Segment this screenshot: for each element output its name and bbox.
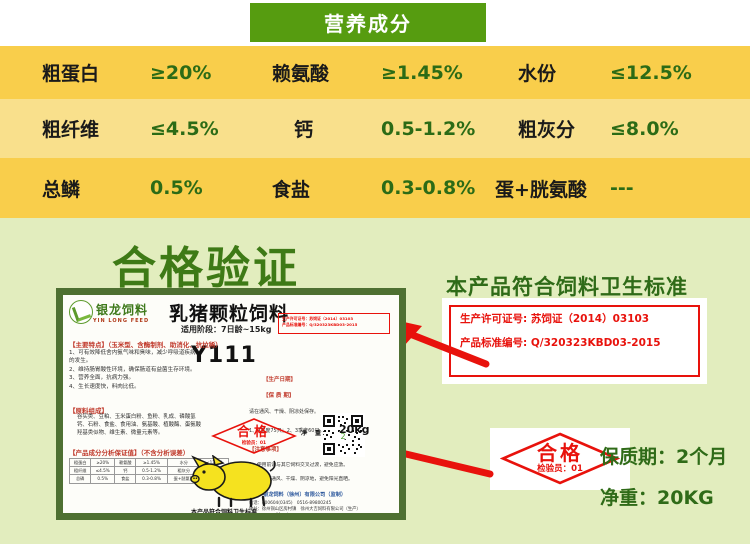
- nutrient-value: ≤12.5%: [610, 62, 692, 84]
- cell: 0.5%: [91, 475, 115, 483]
- feature-item: 1、可有效降低舍内氨气味和臭味，减少呼吸道疾病的发生。: [69, 349, 199, 366]
- label-net-weight-value: 20kg: [339, 423, 370, 436]
- cell: 0.3-0.8%: [136, 475, 167, 483]
- product-label-inner: 银龙饲料 YIN LONG FEED 乳猪颗粒饲料 适用阶段：7日龄~15kg …: [63, 295, 399, 513]
- cell: ≥20%: [91, 459, 115, 467]
- cell: ≥1.45%: [136, 459, 167, 467]
- nutrition-row: 粗纤维 ≤4.5% 钙 0.5-1.2% 粗灰分 ≤8.0%: [0, 99, 750, 158]
- nutrition-header-badge: 营养成分: [250, 3, 486, 42]
- brand-name-en: YIN LONG FEED: [93, 318, 149, 324]
- yinlong-logo-icon: 银龙饲料 YIN LONG FEED: [69, 300, 149, 324]
- pig-illustration-icon: [189, 455, 279, 507]
- cell: 粗纤维: [70, 467, 91, 475]
- nutrient-value: 0.5-1.2%: [381, 118, 475, 140]
- nutrient-label: 总鳞: [42, 175, 80, 202]
- label-guarantee-heading: 【产品成分分析保证值】（不含分析误差）: [69, 447, 189, 457]
- label-materials-text: 谷实类、豆粕、玉米蛋白粉、鱼粉、乳成、磷酸氢钙、石粉、食盐、食用油、氨基酸、植酸…: [77, 414, 205, 437]
- qualified-stamp-label: 合格: [537, 443, 583, 463]
- cell: 食盐: [115, 475, 136, 483]
- nutrient-value: ≤4.5%: [150, 118, 219, 140]
- nutrient-label: 粗灰分: [518, 115, 575, 142]
- nutrient-value: ≥1.45%: [381, 62, 463, 84]
- nutrient-value: 0.3-0.8%: [381, 177, 475, 199]
- nutrient-label: 钙: [294, 115, 313, 142]
- nutrient-label: 粗蛋白: [42, 59, 99, 86]
- cell: 0.5-1.2%: [136, 467, 167, 475]
- label-standard-number: 产品标准编号：Q/320323KBD03-2015: [282, 322, 386, 328]
- nutrient-label: 食盐: [272, 175, 310, 202]
- label-production-date-heading: 【生产日期】: [263, 375, 296, 383]
- label-qualified-stamp-text: 合格 检验员：01: [211, 417, 297, 455]
- product-standard-number: 产品标准编号: Q/320323KBD03-2015: [460, 338, 689, 349]
- label-shelf-life-heading: 【保 质 期】: [263, 391, 294, 399]
- hygiene-standard-heading: 本产品符合饲料卫生标准: [446, 271, 688, 301]
- label-license-box: 生产许可证号：苏饲证（2014）03103 产品标准编号：Q/320323KBD…: [278, 313, 390, 334]
- label-hygiene-note: 本产品符合饲料卫生标准: [191, 507, 257, 513]
- label-features-list: 1、可有效降低舍内氨气味和臭味，减少呼吸道疾病的发生。 2、维持肠胃酸性环境，确…: [69, 349, 199, 391]
- label-net-weight-label: 净 重：: [301, 428, 329, 437]
- cell: 赖氨酸: [115, 459, 136, 467]
- nutrient-value: 0.5%: [150, 177, 203, 199]
- nutrient-label: 粗纤维: [42, 115, 99, 142]
- nutrient-label: 赖氨酸: [272, 59, 329, 86]
- product-label-card: 银龙饲料 YIN LONG FEED 乳猪颗粒饲料 适用阶段：7日龄~15kg …: [56, 288, 406, 520]
- feature-item: 2、维持肠胃酸性环境，确保肠道有益菌生存环境。: [69, 366, 199, 374]
- nutrition-header-strip: 营养成分: [0, 0, 750, 46]
- feature-item: 3、营养全面，抗病力强。: [69, 374, 199, 382]
- license-info-box: 生产许可证号: 苏饲证（2014）03103 产品标准编号: Q/320323K…: [449, 305, 700, 377]
- inspector-label: 检验员：01: [537, 465, 583, 474]
- cell: 钙: [115, 467, 136, 475]
- nutrition-row: 粗蛋白 ≥20% 赖氨酸 ≥1.45% 水份 ≤12.5%: [0, 46, 750, 99]
- cell: 总磷: [70, 475, 91, 483]
- product-detail-page: 营养成分 粗蛋白 ≥20% 赖氨酸 ≥1.45% 水份 ≤12.5% 粗纤维 ≤…: [0, 0, 750, 544]
- feature-item: 4、生长速度快，料肉比低。: [69, 383, 199, 391]
- cell: ≤4.5%: [91, 467, 115, 475]
- nutrient-value: ≤8.0%: [610, 118, 679, 140]
- logo-mark-icon: [69, 300, 93, 324]
- verification-title: 合格验证: [112, 232, 300, 296]
- nutrition-row: 总鳞 0.5% 食盐 0.3-0.8% 蛋+胱氨酸 ---: [0, 158, 750, 218]
- nutrient-label: 水份: [518, 59, 556, 86]
- license-number: 生产许可证号: 苏饲证（2014）03103: [460, 314, 689, 325]
- label-stage: 适用阶段：7日龄~15kg: [181, 324, 271, 335]
- cell: 粗蛋白: [70, 459, 91, 467]
- label-features-heading: 【主要特点】（玉米型、含酶制剂、助消化、抗拉稀）: [69, 339, 222, 349]
- label-inspector-label: 检验员：01: [242, 440, 266, 446]
- nutrient-label: 蛋+胱氨酸: [495, 175, 587, 202]
- label-product-name: 乳猪颗粒饲料: [169, 299, 289, 326]
- shelf-life-text: 保质期：2个月: [600, 442, 727, 469]
- net-weight-text: 净重：20KG: [600, 483, 714, 510]
- nutrient-value: ≥20%: [150, 62, 211, 84]
- label-storage-note: 请在通风、干燥、阴凉处保存。: [249, 408, 319, 415]
- nutrient-value: ---: [610, 177, 634, 199]
- brand-name-cn: 银龙饲料: [96, 301, 149, 318]
- label-qualified-label: 合格: [237, 426, 271, 439]
